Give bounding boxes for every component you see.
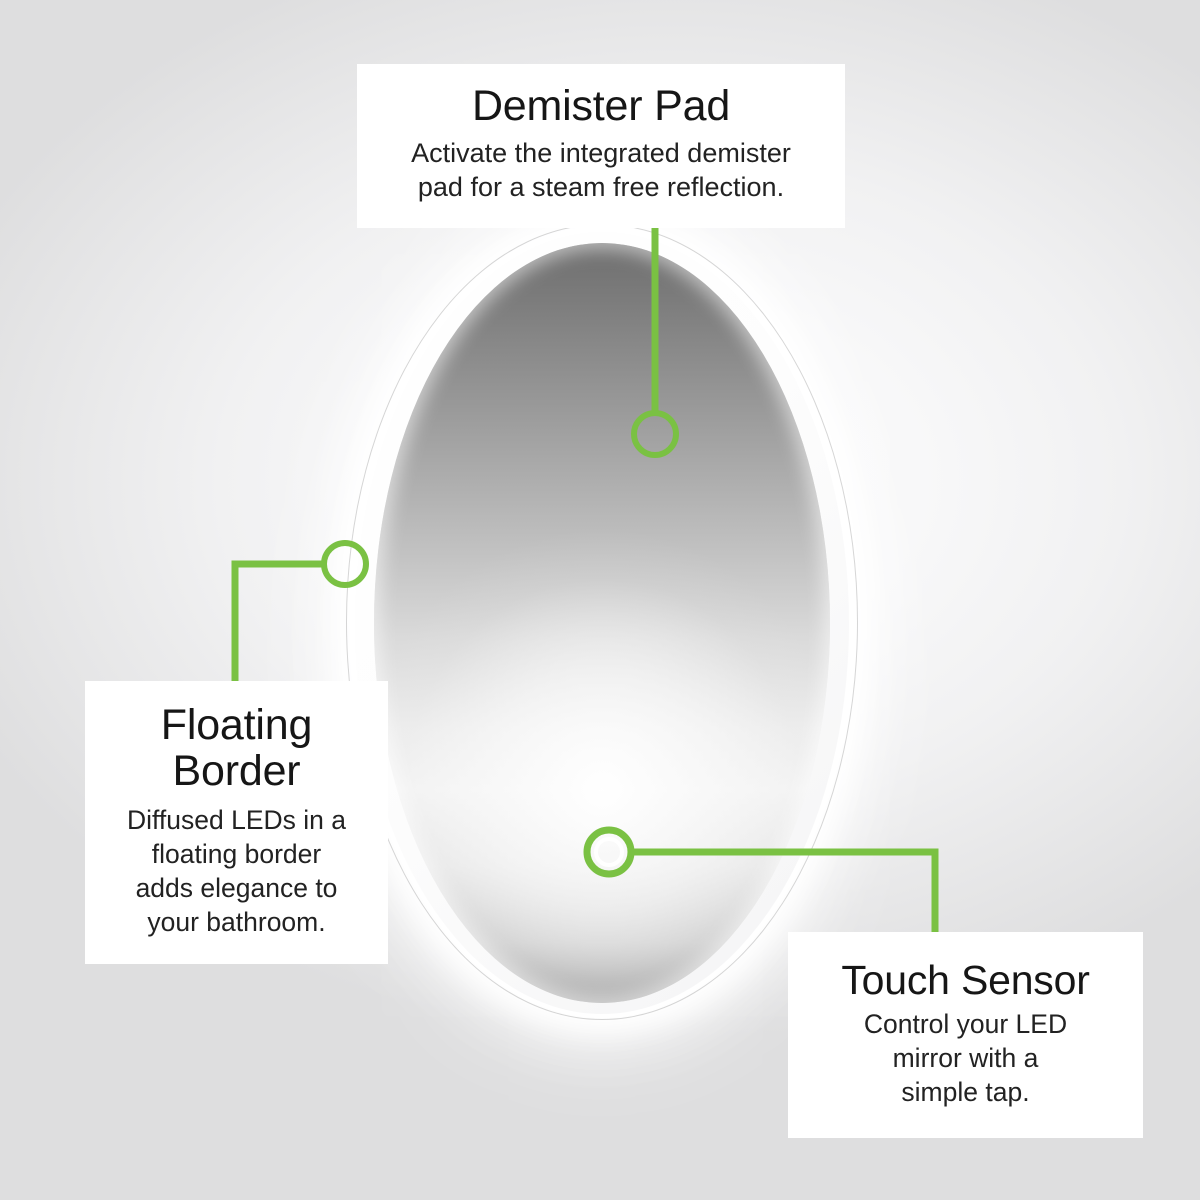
callout-demister-pad: Demister Pad Activate the integrated dem… bbox=[357, 64, 845, 228]
callout-touch-body-line-1: Control your LED bbox=[864, 1008, 1067, 1042]
callout-floating-border: Floating Border Diffused LEDs in a float… bbox=[85, 681, 388, 964]
callout-touch-sensor: Touch Sensor Control your LED mirror wit… bbox=[788, 932, 1143, 1138]
callout-floating-body-line-4: your bathroom. bbox=[127, 906, 346, 940]
floating-border-leader-line bbox=[235, 564, 324, 681]
callout-touch-body: Control your LED mirror with a simple ta… bbox=[864, 1008, 1067, 1109]
callout-touch-title: Touch Sensor bbox=[841, 959, 1089, 1002]
callout-floating-title: Floating Border bbox=[161, 703, 312, 794]
mirror-outline-hairline bbox=[346, 224, 858, 1020]
callout-floating-body-line-3: adds elegance to bbox=[127, 872, 346, 906]
callout-floating-title-line-2: Border bbox=[161, 749, 312, 795]
callout-floating-body-line-2: floating border bbox=[127, 838, 346, 872]
callout-demister-body-line-2: pad for a steam free reflection. bbox=[411, 170, 791, 204]
callout-demister-title: Demister Pad bbox=[472, 84, 730, 130]
callout-touch-body-line-2: mirror with a bbox=[864, 1042, 1067, 1076]
callout-floating-body-line-1: Diffused LEDs in a bbox=[127, 804, 346, 838]
callout-floating-body: Diffused LEDs in a floating border adds … bbox=[127, 804, 346, 940]
callout-demister-body: Activate the integrated demister pad for… bbox=[411, 136, 791, 204]
callout-demister-body-line-1: Activate the integrated demister bbox=[411, 136, 791, 170]
infographic-canvas: Demister Pad Activate the integrated dem… bbox=[0, 0, 1200, 1200]
oval-led-mirror bbox=[338, 222, 866, 1022]
callout-touch-body-line-3: simple tap. bbox=[864, 1076, 1067, 1110]
callout-floating-title-line-1: Floating bbox=[161, 703, 312, 749]
